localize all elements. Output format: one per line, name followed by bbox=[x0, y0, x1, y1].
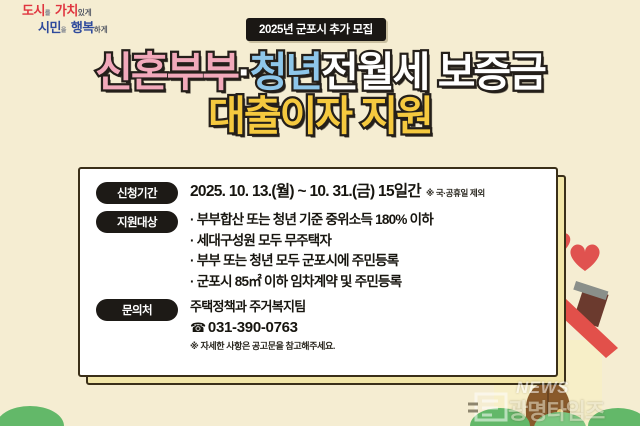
info-row-contact: 문의처 주택정책과 주거복지팀 ☎031-390-0763 ※ 자세한 사항은 … bbox=[96, 298, 542, 354]
period-value-line: 2025. 10. 13.(월) ~ 10. 31.(금) 15일간※ 국·공휴… bbox=[190, 181, 542, 203]
period-value: 2025. 10. 13.(월) ~ 10. 31.(금) 15일간 bbox=[190, 183, 421, 200]
headline-line-2: 대출이자 지원 bbox=[0, 96, 640, 138]
headline-seg-newlywed: 신혼부부 bbox=[95, 52, 238, 94]
logo-line-1: 도시를 가치있게 bbox=[22, 3, 108, 20]
news-watermark: NEWS 광명타임즈 bbox=[468, 378, 640, 426]
period-body: 2025. 10. 13.(월) ~ 10. 31.(금) 15일간※ 국·공휴… bbox=[178, 181, 542, 203]
telephone-icon: ☎ bbox=[190, 320, 206, 335]
info-row-eligibility: 지원대상 · 부부합산 또는 청년 기준 중위소득 180% 이하 · 세대구성… bbox=[96, 210, 542, 292]
gunpo-city-logo: 도시를 가치있게 시민을 행복하게 bbox=[22, 3, 108, 37]
poster-headline: 신혼부부 · 청년 전월세 보증금 대출이자 지원 bbox=[0, 52, 640, 138]
headline-seg-youth: 청년 bbox=[250, 52, 321, 94]
headline-line-1: 신혼부부 · 청년 전월세 보증금 bbox=[0, 52, 640, 94]
headline-seg-loan-interest: 대출이자 지원 bbox=[208, 96, 432, 138]
recruitment-banner: 2025년 군포시 추가 모집 bbox=[246, 18, 386, 41]
logo-word-dosi: 도시 bbox=[22, 3, 45, 18]
contact-department: 주택정책과 주거복지팀 bbox=[190, 298, 542, 317]
logo-suffix-2: 하게 bbox=[94, 25, 108, 34]
contact-body: 주택정책과 주거복지팀 ☎031-390-0763 ※ 자세한 사항은 공고문을… bbox=[178, 298, 542, 354]
eligibility-body: · 부부합산 또는 청년 기준 중위소득 180% 이하 · 세대구성원 모두 … bbox=[178, 210, 542, 292]
logo-suffix-1: 있게 bbox=[78, 8, 92, 17]
contact-phone-line: ☎031-390-0763 bbox=[190, 317, 542, 339]
logo-line-2: 시민을 행복하게 bbox=[38, 20, 108, 37]
headline-seg-deposit: 전월세 보증금 bbox=[321, 52, 545, 94]
eligibility-bullet-2: · 세대구성원 모두 무주택자 bbox=[190, 231, 542, 252]
eligibility-bullet-4: · 군포시 85㎡ 이하 임차계약 및 주민등록 bbox=[190, 272, 542, 293]
period-note: ※ 국·공휴일 제외 bbox=[426, 188, 485, 198]
contact-note: ※ 자세한 사항은 공고문을 참고해주세요. bbox=[190, 339, 542, 354]
contact-phone-number: 031-390-0763 bbox=[208, 319, 298, 336]
logo-word-gachi: 가치 bbox=[55, 3, 78, 18]
poster-canvas: 도시를 가치있게 시민을 행복하게 2025년 군포시 추가 모집 신혼부부 ·… bbox=[0, 0, 640, 426]
headline-seg-separator: · bbox=[238, 52, 250, 94]
eligibility-bullet-3: · 부부 또는 청년 모두 군포시에 주민등록 bbox=[190, 251, 542, 272]
logo-particle-1: 를 bbox=[45, 11, 51, 17]
logo-word-haengbok: 행복 bbox=[71, 20, 94, 35]
info-card: 신청기간 2025. 10. 13.(월) ~ 10. 31.(금) 15일간※… bbox=[78, 167, 558, 377]
label-eligibility: 지원대상 bbox=[96, 211, 178, 233]
info-row-period: 신청기간 2025. 10. 13.(월) ~ 10. 31.(금) 15일간※… bbox=[96, 181, 542, 204]
label-contact: 문의처 bbox=[96, 299, 178, 321]
watermark-outlet-name: 광명타임즈 bbox=[508, 394, 604, 426]
eligibility-bullet-1: · 부부합산 또는 청년 기준 중위소득 180% 이하 bbox=[190, 210, 542, 231]
logo-particle-2: 을 bbox=[61, 28, 67, 34]
logo-word-simin: 시민 bbox=[38, 20, 61, 35]
label-application-period: 신청기간 bbox=[96, 182, 178, 204]
